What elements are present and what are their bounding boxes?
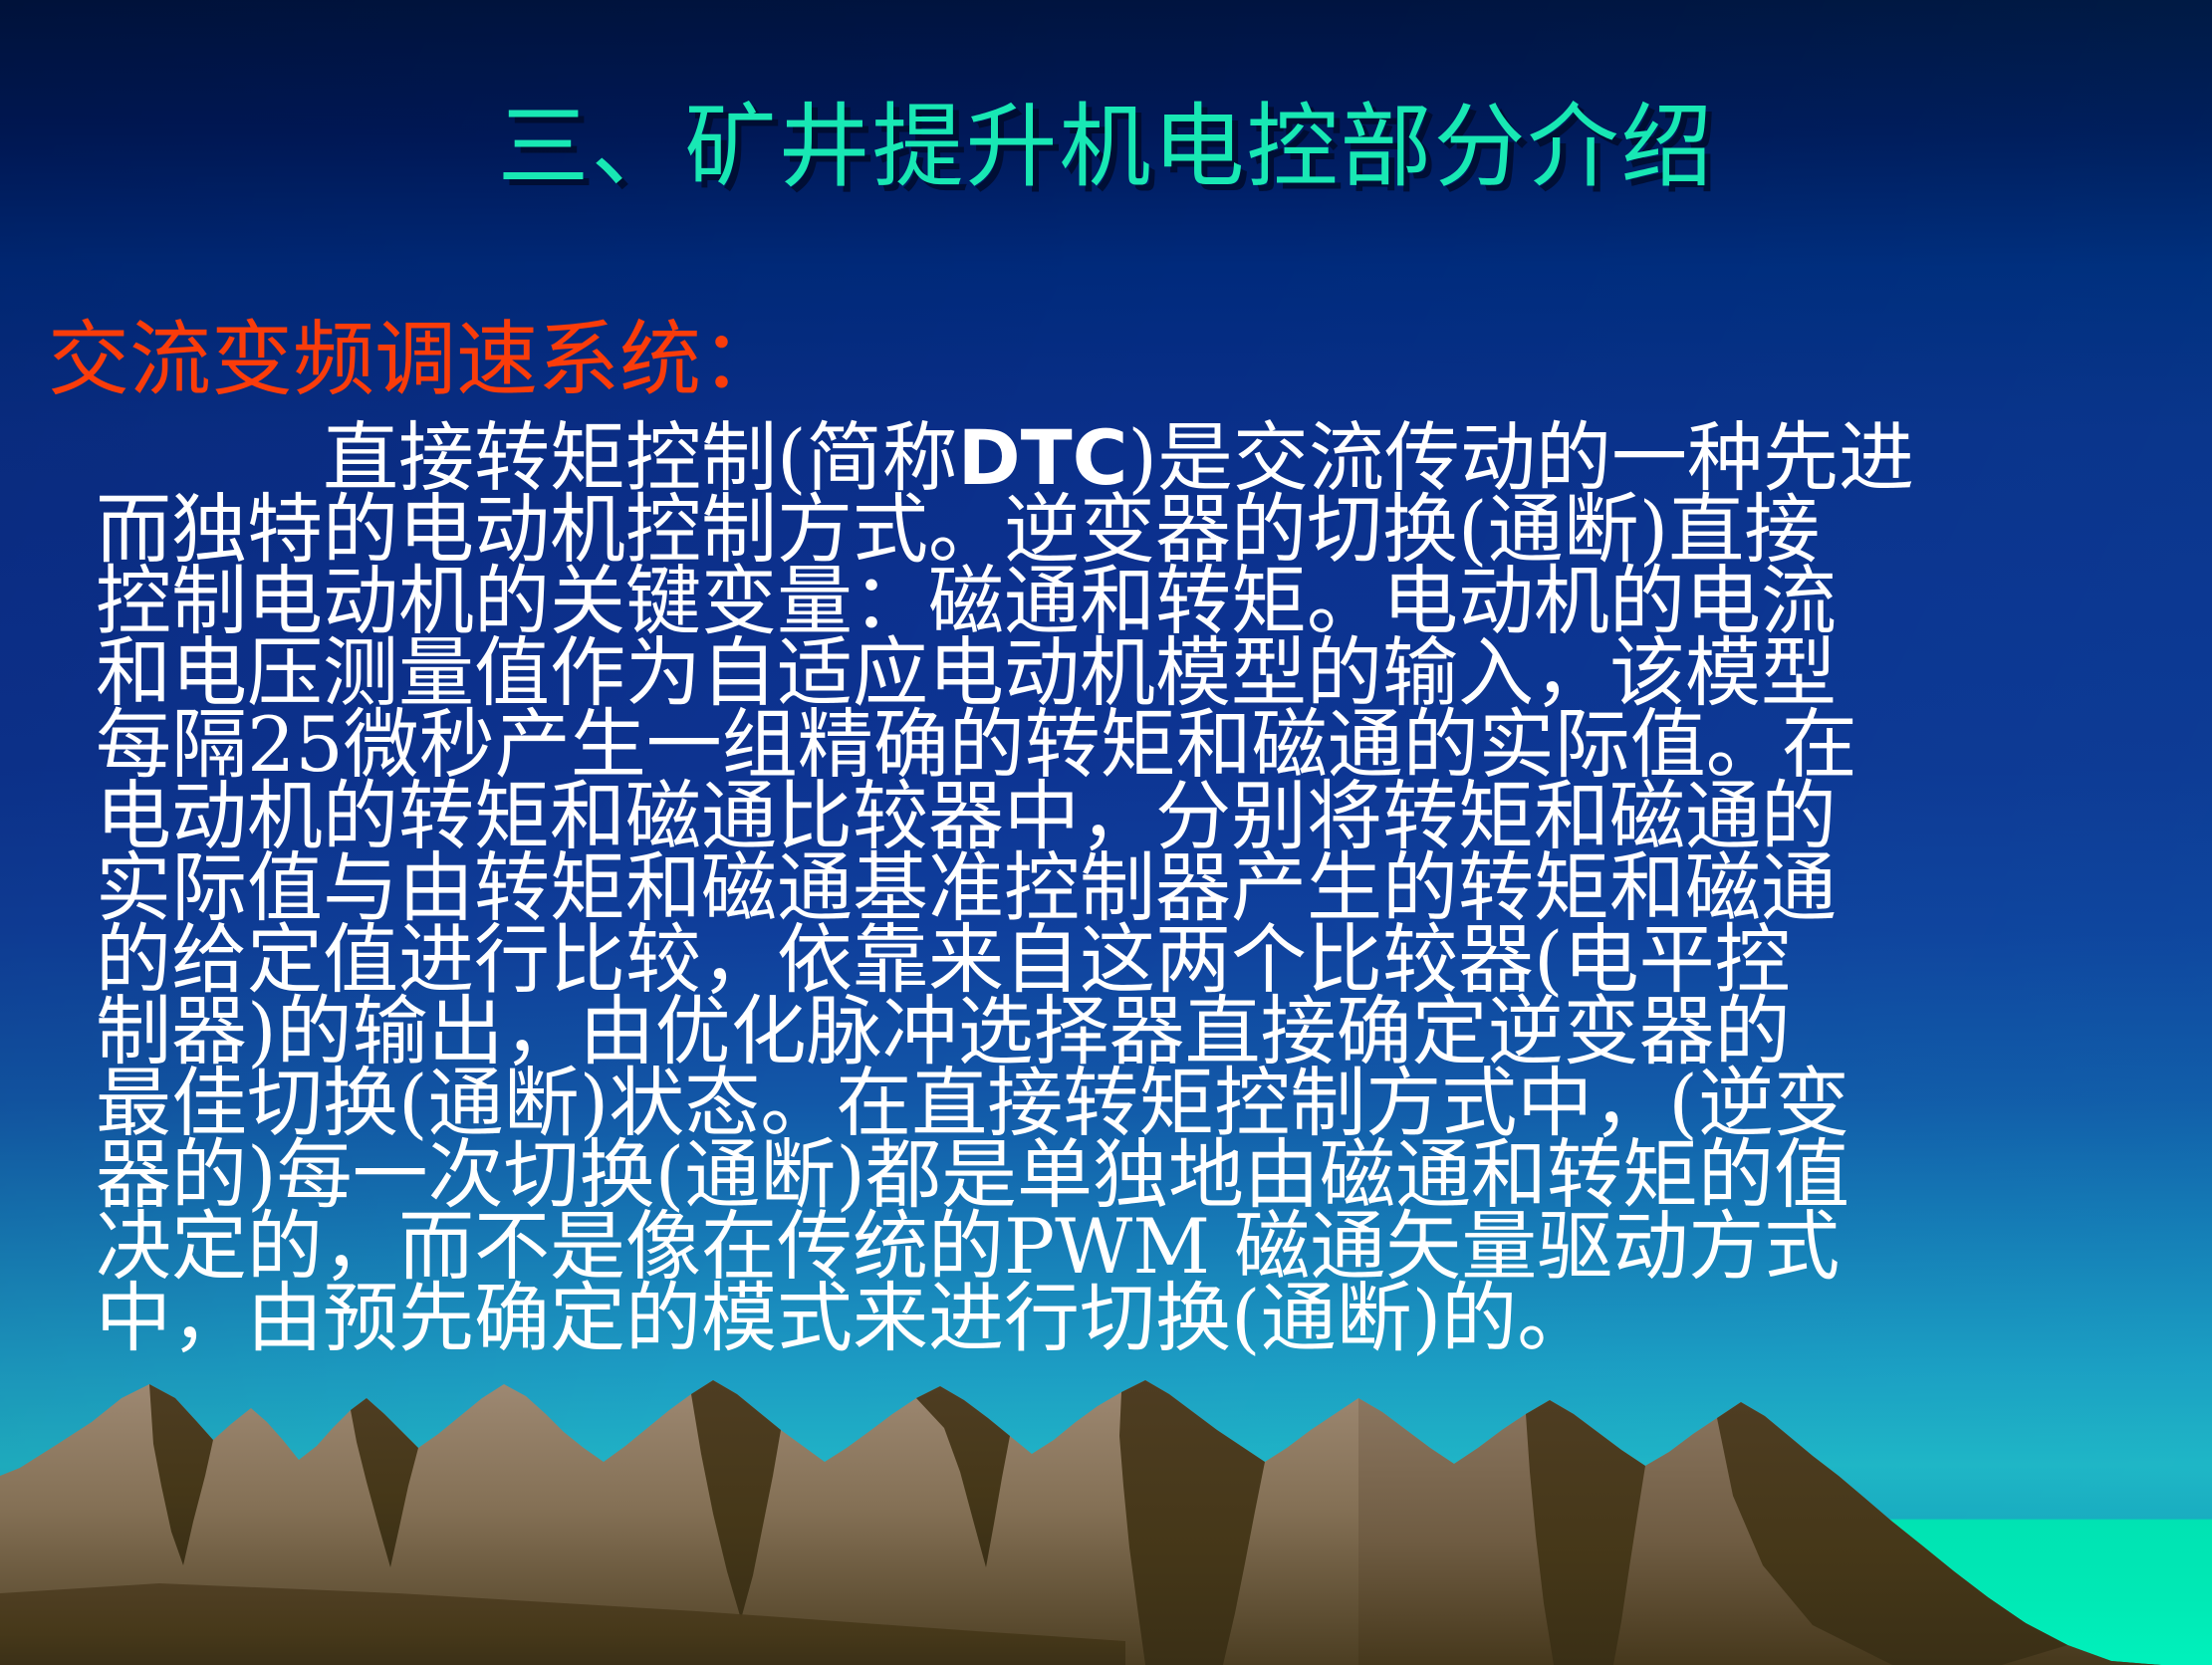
slide-body-text: 直接转矩控制(简称DTC)是交流传动的一种先进而独特的电动机控制方式。逆变器的切… bbox=[96, 422, 2127, 1354]
body-line: 决定的，而不是像在传统的PWM 磁通矢量驱动方式 bbox=[96, 1211, 2127, 1283]
body-line: 而独特的电动机控制方式。逆变器的切换(通断)直接 bbox=[96, 494, 2127, 566]
body-line: 最佳切换(通断)状态。在直接转矩控制方式中，(逆变 bbox=[96, 1068, 2127, 1139]
body-line: 每隔25微秒产生一组精确的转矩和磁通的实际值。在 bbox=[96, 709, 2127, 781]
body-line: 直接转矩控制(简称DTC)是交流传动的一种先进 bbox=[96, 422, 2127, 494]
body-line: 制器)的输出，由优化脉冲选择器直接确定逆变器的 bbox=[96, 996, 2127, 1068]
body-line: 的给定值进行比较，依靠来自这两个比较器(电平控 bbox=[96, 924, 2127, 996]
body-line: 控制电动机的关键变量：磁通和转矩。电动机的电流 bbox=[96, 566, 2127, 637]
body-line: 中，由预先确定的模式来进行切换(通断)的。 bbox=[96, 1283, 2127, 1354]
body-line: 和电压测量值作为自适应电动机模型的输入，该模型 bbox=[96, 637, 2127, 709]
slide-subtitle: 交流变频调速系统： bbox=[48, 315, 783, 406]
presentation-slide: 三、矿井提升机电控部分介绍 交流变频调速系统： 直接转矩控制(简称DTC)是交流… bbox=[0, 0, 2212, 1665]
body-line: 器的)每一次切换(通断)都是单独地由磁通和转矩的值 bbox=[96, 1139, 2127, 1211]
body-line: 实际值与由转矩和磁通基准控制器产生的转矩和磁通 bbox=[96, 852, 2127, 924]
slide-title: 三、矿井提升机电控部分介绍 bbox=[0, 96, 2212, 199]
body-line: 电动机的转矩和磁通比较器中，分别将转矩和磁通的 bbox=[96, 781, 2127, 852]
mountain-range-graphic bbox=[0, 1336, 2212, 1665]
